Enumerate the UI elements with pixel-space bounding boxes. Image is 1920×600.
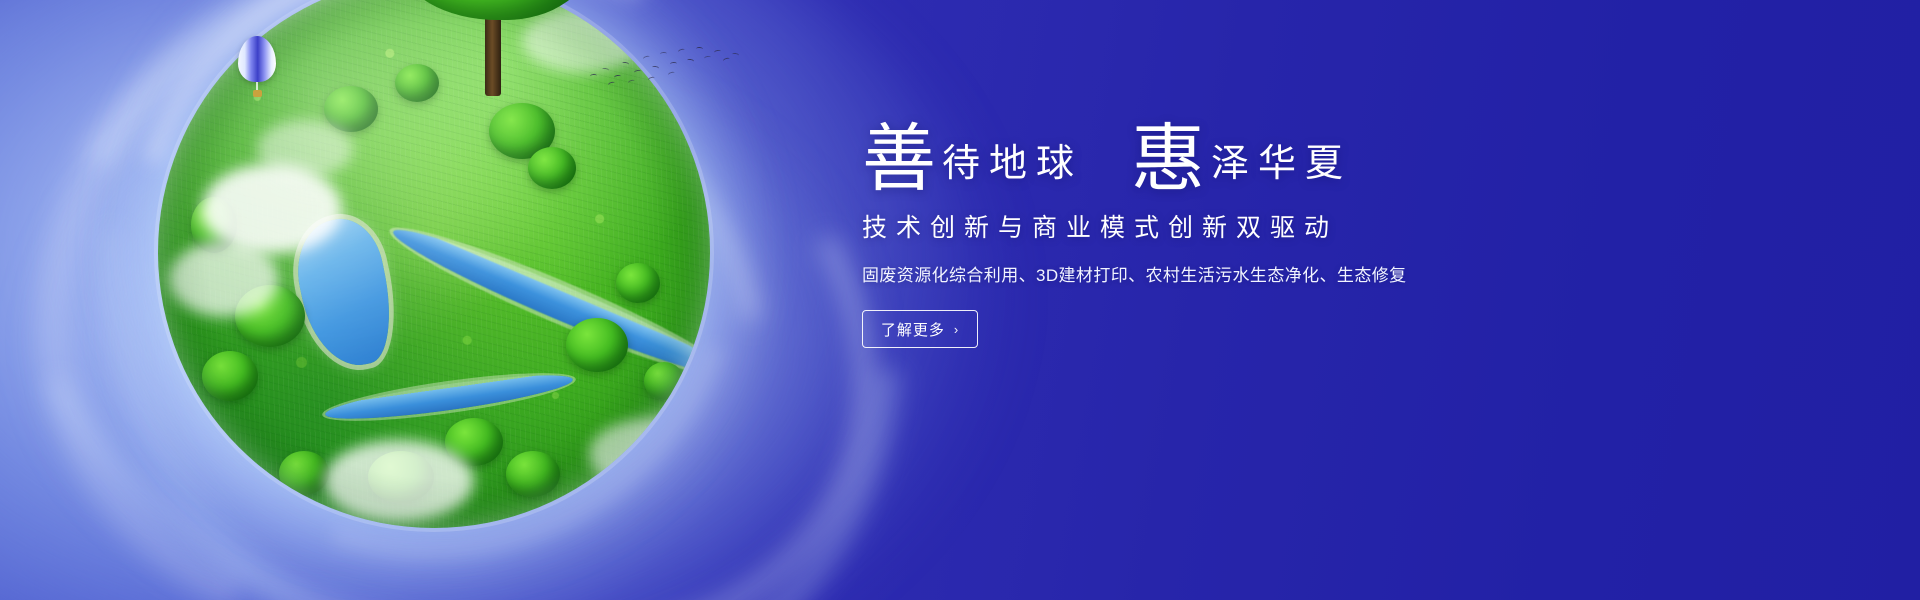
bird-icon (732, 52, 740, 57)
headline-text-2: 泽华夏 (1211, 135, 1352, 194)
bird-icon (704, 55, 712, 60)
bird-icon (668, 71, 676, 77)
tree-image (401, 0, 591, 90)
learn-more-label: 了解更多 (881, 319, 945, 340)
bird-icon (634, 69, 642, 74)
bird-icon (622, 61, 630, 66)
bird-icon (723, 57, 731, 63)
bird-icon (590, 74, 597, 78)
bird-icon (643, 55, 651, 61)
bird-icon (602, 67, 610, 72)
headline-text-1: 待地球 (942, 135, 1083, 194)
balloon-envelope (238, 36, 276, 82)
bird-icon (670, 62, 677, 66)
banner-subtitle: 技术创新与商业模式创新双驱动 (862, 208, 1562, 244)
headline-char-2: 惠 (1131, 126, 1205, 194)
bird-icon (614, 74, 622, 79)
bird-icon (652, 65, 660, 70)
hot-air-balloon-icon (238, 36, 276, 98)
chevron-right-icon: › (954, 323, 959, 336)
banner-content: 善 待地球 惠 泽华夏 技术创新与商业模式创新双驱动 固废资源化综合利用、3D建… (862, 126, 1562, 348)
bird-icon (660, 52, 667, 56)
hero-banner: 善 待地球 惠 泽华夏 技术创新与商业模式创新双驱动 固废资源化综合利用、3D建… (0, 0, 1920, 600)
bird-icon (608, 81, 616, 87)
learn-more-button[interactable]: 了解更多 › (862, 310, 978, 348)
bird-icon (628, 79, 636, 85)
tree-canopy (401, 0, 591, 20)
page-title: 善 待地球 惠 泽华夏 (862, 126, 1562, 194)
banner-description: 固废资源化综合利用、3D建材打印、农村生活污水生态净化、生态修复 (862, 261, 1562, 286)
bird-icon (696, 47, 703, 51)
bird-icon (714, 49, 722, 54)
headline-char-1: 善 (862, 126, 936, 194)
flying-birds-icon (588, 44, 738, 96)
balloon-basket (253, 90, 262, 97)
bird-icon (648, 76, 656, 82)
bird-icon (678, 48, 686, 54)
bird-icon (687, 58, 695, 63)
